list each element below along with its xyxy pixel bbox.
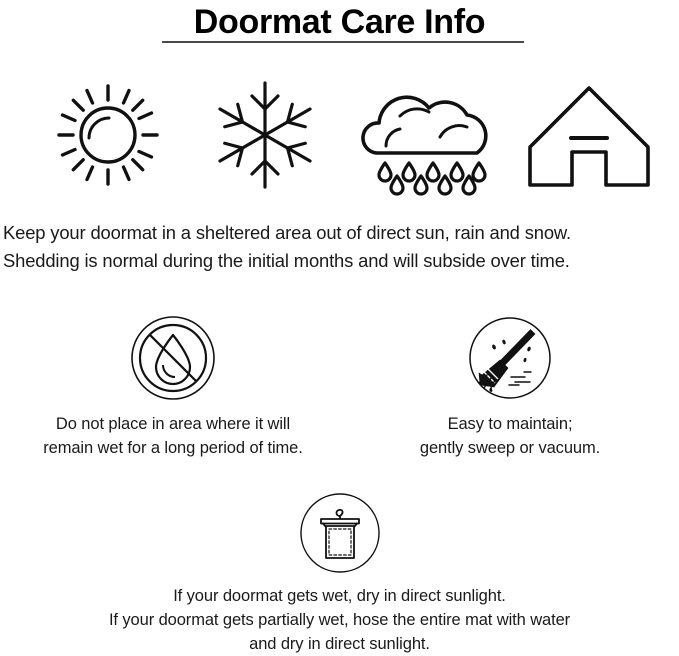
no-water-icon: [130, 315, 216, 401]
care-item-sweep-caption: Easy to maintain; gently sweep or vacuum…: [345, 412, 675, 460]
care-item-no-water-caption: Do not place in area where it will remai…: [8, 412, 338, 460]
weather-icon-row: [0, 72, 679, 198]
intro-line-2: Shedding is normal during the initial mo…: [3, 247, 679, 275]
drying-item-section: If your doormat gets wet, dry in direct …: [0, 492, 679, 656]
intro-paragraph: Keep your doormat in a sheltered area ou…: [0, 219, 679, 275]
drying-line-2: If your doormat gets partially wet, hose…: [0, 608, 679, 632]
care-item-sweep: Easy to maintain; gently sweep or vacuum…: [345, 315, 675, 460]
intro-line-1: Keep your doormat in a sheltered area ou…: [3, 219, 679, 247]
caption-line-2: remain wet for a long period of time.: [8, 436, 338, 460]
house-icon: [522, 72, 657, 198]
hanging-mat-icon: [299, 492, 381, 574]
caption-line-1: Easy to maintain;: [345, 412, 675, 436]
caption-line-2: gently sweep or vacuum.: [345, 436, 675, 460]
broom-icon: [467, 315, 553, 401]
drying-line-1: If your doormat gets wet, dry in direct …: [0, 584, 679, 608]
page-title-block: Doormat Care Info: [0, 0, 679, 42]
snowflake-icon: [205, 72, 325, 198]
caption-line-1: Do not place in area where it will: [8, 412, 338, 436]
care-item-no-water: Do not place in area where it will remai…: [8, 315, 338, 460]
rain-cloud-icon: [355, 72, 503, 198]
title-divider: [162, 41, 524, 43]
sun-icon: [44, 72, 172, 198]
care-items-section: Do not place in area where it will remai…: [0, 315, 679, 465]
drying-line-3: and dry in direct sunlight.: [0, 632, 679, 656]
page-title: Doormat Care Info: [0, 0, 679, 42]
drying-item-caption: If your doormat gets wet, dry in direct …: [0, 584, 679, 656]
